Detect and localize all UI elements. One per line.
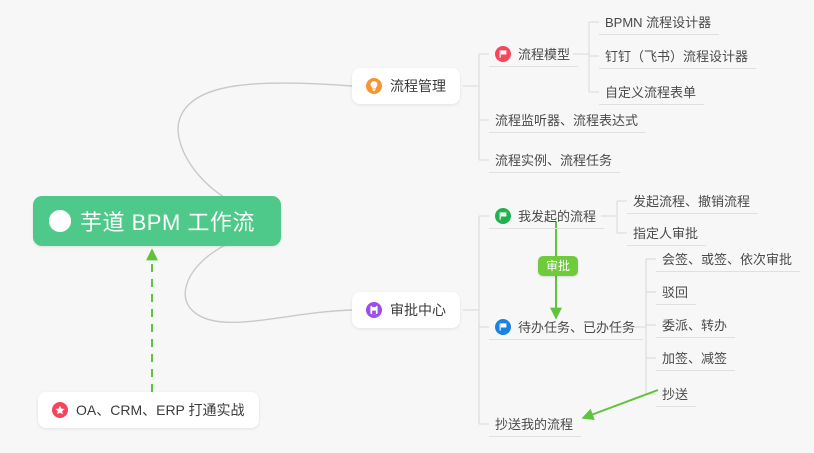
bottom-note-card[interactable]: OA、CRM、ERP 打通实战	[38, 392, 259, 428]
node-reject[interactable]: 驳回	[656, 279, 696, 305]
node-cc-to-me-processes[interactable]: 抄送我的流程	[489, 411, 581, 437]
node-label: 抄送	[662, 384, 688, 403]
node-start-cancel-process[interactable]: 发起流程、撤销流程	[627, 188, 758, 214]
node-label: 流程实例、流程任务	[495, 150, 612, 169]
flag-icon	[495, 319, 511, 335]
flag-icon	[495, 208, 511, 224]
approval-badge: 审批	[538, 256, 578, 276]
node-assignee-approval[interactable]: 指定人审批	[627, 220, 706, 246]
node-my-started-processes[interactable]: 我发起的流程	[489, 203, 604, 229]
node-label: 钉钉（飞书）流程设计器	[605, 46, 748, 65]
node-label: BPMN 流程设计器	[605, 12, 711, 31]
thumbs-up-icon	[49, 210, 71, 232]
branch-process-management[interactable]: 流程管理	[352, 68, 460, 104]
clipboard-icon	[366, 302, 382, 318]
node-process-instance-task[interactable]: 流程实例、流程任务	[489, 147, 620, 173]
node-label: 加签、减签	[662, 348, 727, 367]
lightbulb-icon	[366, 78, 382, 94]
node-add-remove-sign[interactable]: 加签、减签	[656, 345, 735, 371]
node-countersign-orsign-sequential[interactable]: 会签、或签、依次审批	[656, 246, 800, 272]
branch-label: 审批中心	[390, 300, 446, 320]
star-icon	[52, 402, 68, 418]
node-delegate-transfer[interactable]: 委派、转办	[656, 312, 735, 338]
node-process-model[interactable]: 流程模型	[489, 41, 578, 67]
node-label: 我发起的流程	[518, 206, 596, 225]
node-label: 委派、转办	[662, 315, 727, 334]
branch-label: 流程管理	[390, 76, 446, 96]
node-custom-process-form[interactable]: 自定义流程表单	[599, 79, 704, 105]
node-cc[interactable]: 抄送	[656, 381, 696, 407]
node-label: 驳回	[662, 282, 688, 301]
node-label: 待办任务、已办任务	[518, 317, 635, 336]
node-label: 会签、或签、依次审批	[662, 249, 792, 268]
node-dingtalk-feishu-designer[interactable]: 钉钉（飞书）流程设计器	[599, 43, 756, 69]
node-label: 抄送我的流程	[495, 414, 573, 433]
node-label: 流程监听器、流程表达式	[495, 110, 638, 129]
node-todo-done-tasks[interactable]: 待办任务、已办任务	[489, 314, 643, 340]
node-bpmn-designer[interactable]: BPMN 流程设计器	[599, 9, 719, 35]
node-label: 流程模型	[518, 44, 570, 63]
node-label: 发起流程、撤销流程	[633, 191, 750, 210]
bottom-note-label: OA、CRM、ERP 打通实战	[76, 400, 245, 420]
mindmap-canvas: 芋道 BPM 工作流 流程管理 流程模型 BPMN 流程设计器 钉钉（飞书）流程…	[0, 0, 814, 453]
flag-icon	[495, 46, 511, 62]
branch-approval-center[interactable]: 审批中心	[352, 292, 460, 328]
root-node[interactable]: 芋道 BPM 工作流	[33, 196, 281, 246]
node-process-listener-expression[interactable]: 流程监听器、流程表达式	[489, 107, 646, 133]
root-label: 芋道 BPM 工作流	[80, 205, 255, 237]
node-label: 自定义流程表单	[605, 82, 696, 101]
node-label: 指定人审批	[633, 223, 698, 242]
